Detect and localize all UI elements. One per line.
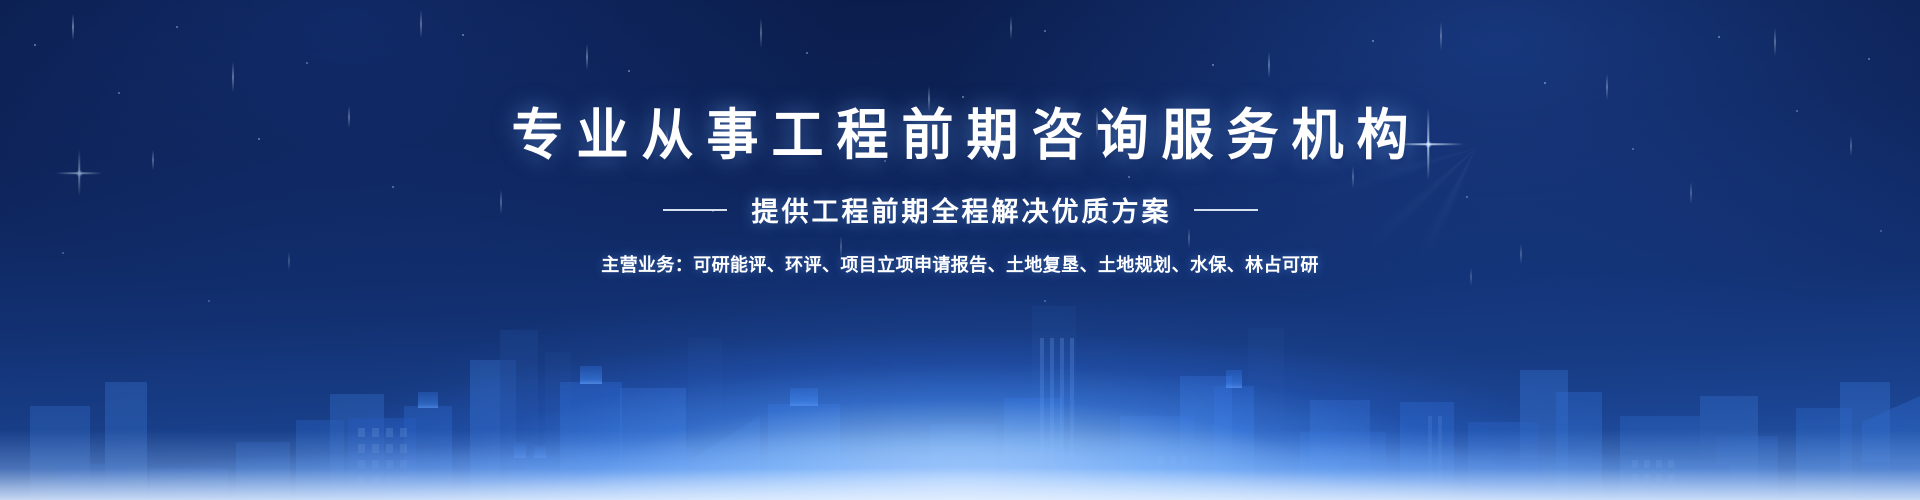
rule-left-icon bbox=[663, 209, 727, 211]
business-scope-text: 主营业务：可研能评、环评、项目立项申请报告、土地复垦、土地规划、水保、林占可研 bbox=[601, 251, 1319, 277]
banner-content: 专业从事工程前期咨询服务机构 提供工程前期全程解决优质方案 主营业务：可研能评、… bbox=[0, 0, 1920, 500]
hero-banner: 专业从事工程前期咨询服务机构 提供工程前期全程解决优质方案 主营业务：可研能评、… bbox=[0, 0, 1920, 500]
subtitle-row: 提供工程前期全程解决优质方案 bbox=[663, 190, 1258, 229]
page-subtitle: 提供工程前期全程解决优质方案 bbox=[749, 190, 1172, 229]
rule-right-icon bbox=[1194, 209, 1258, 211]
page-title: 专业从事工程前期咨询服务机构 bbox=[498, 106, 1421, 166]
